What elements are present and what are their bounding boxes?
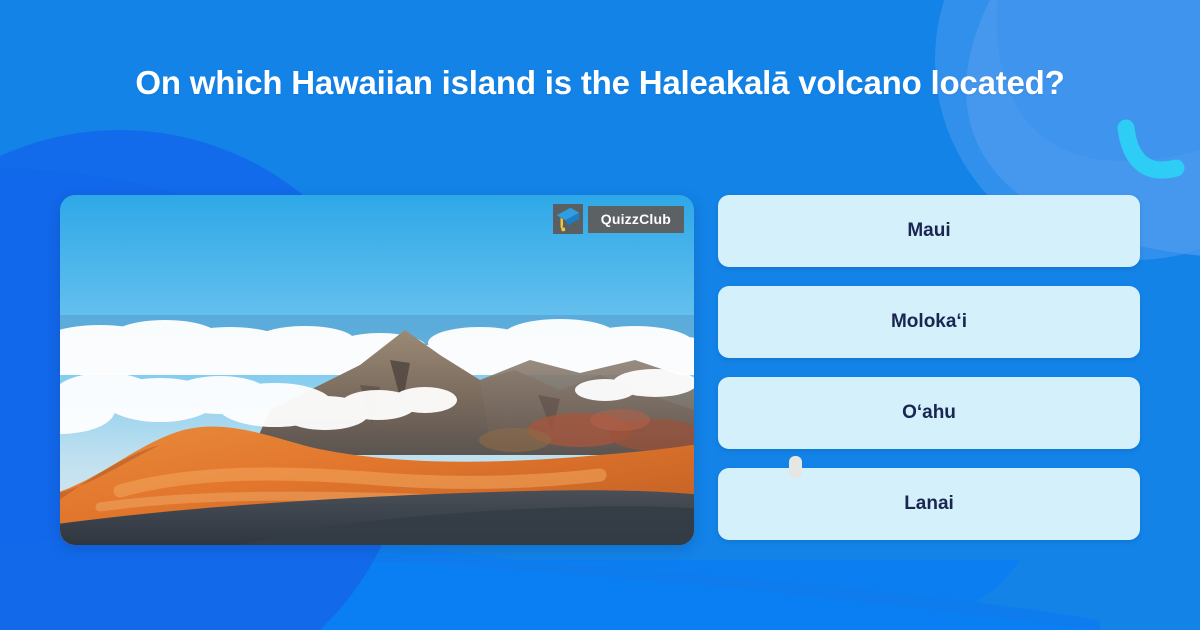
answer-label: O‘ahu (902, 402, 956, 424)
answer-option-2[interactable]: Moloka‘i (718, 286, 1140, 358)
graduation-cap-icon (553, 204, 583, 234)
page-title: On which Hawaiian island is the Haleakal… (0, 62, 1200, 104)
question-image: QuizzClub (60, 195, 694, 545)
answer-option-1[interactable]: Maui (718, 195, 1140, 267)
watermark-label: QuizzClub (588, 206, 684, 233)
question-title-wrap: On which Hawaiian island is the Haleakal… (0, 62, 1200, 104)
answer-label: Maui (907, 220, 950, 242)
answer-marker-tab (789, 456, 802, 478)
answer-options: Maui Moloka‘i O‘ahu Lanai (718, 195, 1140, 540)
answer-option-4[interactable]: Lanai (718, 468, 1140, 540)
answer-option-3[interactable]: O‘ahu (718, 377, 1140, 449)
volcano-photo-illustration (60, 195, 694, 545)
answer-label: Moloka‘i (891, 311, 967, 333)
answer-label: Lanai (904, 493, 954, 515)
watermark: QuizzClub (553, 204, 684, 234)
